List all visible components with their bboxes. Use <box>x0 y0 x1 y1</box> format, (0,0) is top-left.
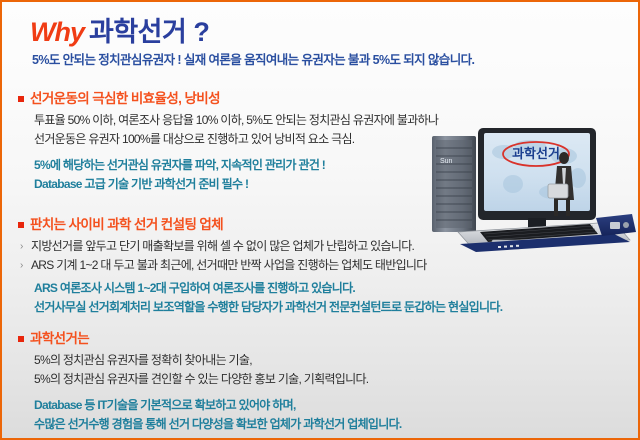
section-1-heading-text: 선거운동의 극심한 비효율성, 낭비성 <box>30 91 220 106</box>
square-bullet-icon <box>18 96 24 102</box>
body-line: 5%의 정치관심 유권자를 정확히 찾아내는 기술, <box>34 351 638 370</box>
chevron-right-icon: › <box>20 237 23 256</box>
body-line-arrow: ›지방선거를 앞두고 단기 매출확보를 위해 셀 수 없이 많은 업체가 난립하… <box>20 237 638 256</box>
square-bullet-icon <box>18 222 24 228</box>
body-line-accent: 5%에 해당하는 선거관심 유권자를 파악, 지속적인 관리가 관건 ! <box>34 156 638 175</box>
body-line-arrow: ›ARS 기계 1~2 대 두고 불과 최근에, 선거때만 반짝 사업을 진행하… <box>20 256 638 275</box>
body-line-accent: Database 등 IT기술을 기본적으로 확보하고 있어야 하며, <box>34 396 638 415</box>
slide-header: Why과학선거 ? 5%도 안되는 정치관심유권자 ! 실재 여론을 움직여내는… <box>2 2 638 74</box>
section-3-heading-text: 과학선거는 <box>30 331 89 346</box>
section-1-heading: 선거운동의 극심한 비효율성, 낭비성 <box>2 90 638 108</box>
page-title: Why과학선거 ? <box>30 10 209 49</box>
section-2-heading: 판치는 사이비 과학 선거 컨설팅 업체 <box>2 216 638 234</box>
page-title-en: Why <box>30 17 84 47</box>
spacer <box>34 389 638 396</box>
page-title-kr: 과학선거 ? <box>89 17 209 47</box>
body-line: 투표율 50% 이하, 여론조사 응답율 10% 이하, 5%도 안되는 정치관… <box>34 111 638 130</box>
chevron-right-icon: › <box>20 256 23 275</box>
section-3-heading: 과학선거는 <box>2 330 638 348</box>
spacer <box>34 149 638 156</box>
body-line-accent: 수많은 선거수행 경험을 통해 선거 다양성을 확보한 업체가 과학선거 업체입… <box>34 415 638 434</box>
slide-root: Why과학선거 ? 5%도 안되는 정치관심유권자 ! 실재 여론을 움직여내는… <box>0 0 640 440</box>
body-line: 선거운동은 유권자 100%를 대상으로 진행하고 있어 낭비적 요소 극심. <box>34 130 638 149</box>
body-line-accent: ARS 여론조사 시스템 1~2대 구입하여 여론조사를 진행하고 있습니다. <box>20 279 638 298</box>
section-definition: 과학선거는 5%의 정치관심 유권자를 정확히 찾아내는 기술, 5%의 정치관… <box>2 330 638 434</box>
body-line: 5%의 정치관심 유권자를 견인할 수 있는 다양한 홍보 기술, 기획력입니다… <box>34 370 638 389</box>
square-bullet-icon <box>18 336 24 342</box>
section-fake-consultants: 판치는 사이비 과학 선거 컨설팅 업체 ›지방선거를 앞두고 단기 매출확보를… <box>2 216 638 317</box>
body-line-accent: Database 고급 기술 기반 과학선거 준비 필수 ! <box>34 175 638 194</box>
section-1-body: 투표율 50% 이하, 여론조사 응답율 10% 이하, 5%도 안되는 정치관… <box>2 111 638 194</box>
body-line-arrow-text: ARS 기계 1~2 대 두고 불과 최근에, 선거때만 반짝 사업을 진행하는… <box>31 258 427 272</box>
page-subtitle: 5%도 안되는 정치관심유권자 ! 실재 여론을 움직여내는 유권자는 불과 5… <box>32 49 474 68</box>
section-2-body: ›지방선거를 앞두고 단기 매출확보를 위해 셀 수 없이 많은 업체가 난립하… <box>2 237 638 317</box>
body-line-accent: 선거사무실 선거회계처리 보조역할을 수행한 담당자가 과학선거 전문컨설턴트로… <box>20 298 638 317</box>
body-line-arrow-text: 지방선거를 앞두고 단기 매출확보를 위해 셀 수 없이 많은 업체가 난립하고… <box>31 239 414 253</box>
section-3-body: 5%의 정치관심 유권자를 정확히 찾아내는 기술, 5%의 정치관심 유권자를… <box>2 351 638 434</box>
section-inefficiency: 선거운동의 극심한 비효율성, 낭비성 투표율 50% 이하, 여론조사 응답율… <box>2 90 638 194</box>
section-2-heading-text: 판치는 사이비 과학 선거 컨설팅 업체 <box>30 217 223 232</box>
